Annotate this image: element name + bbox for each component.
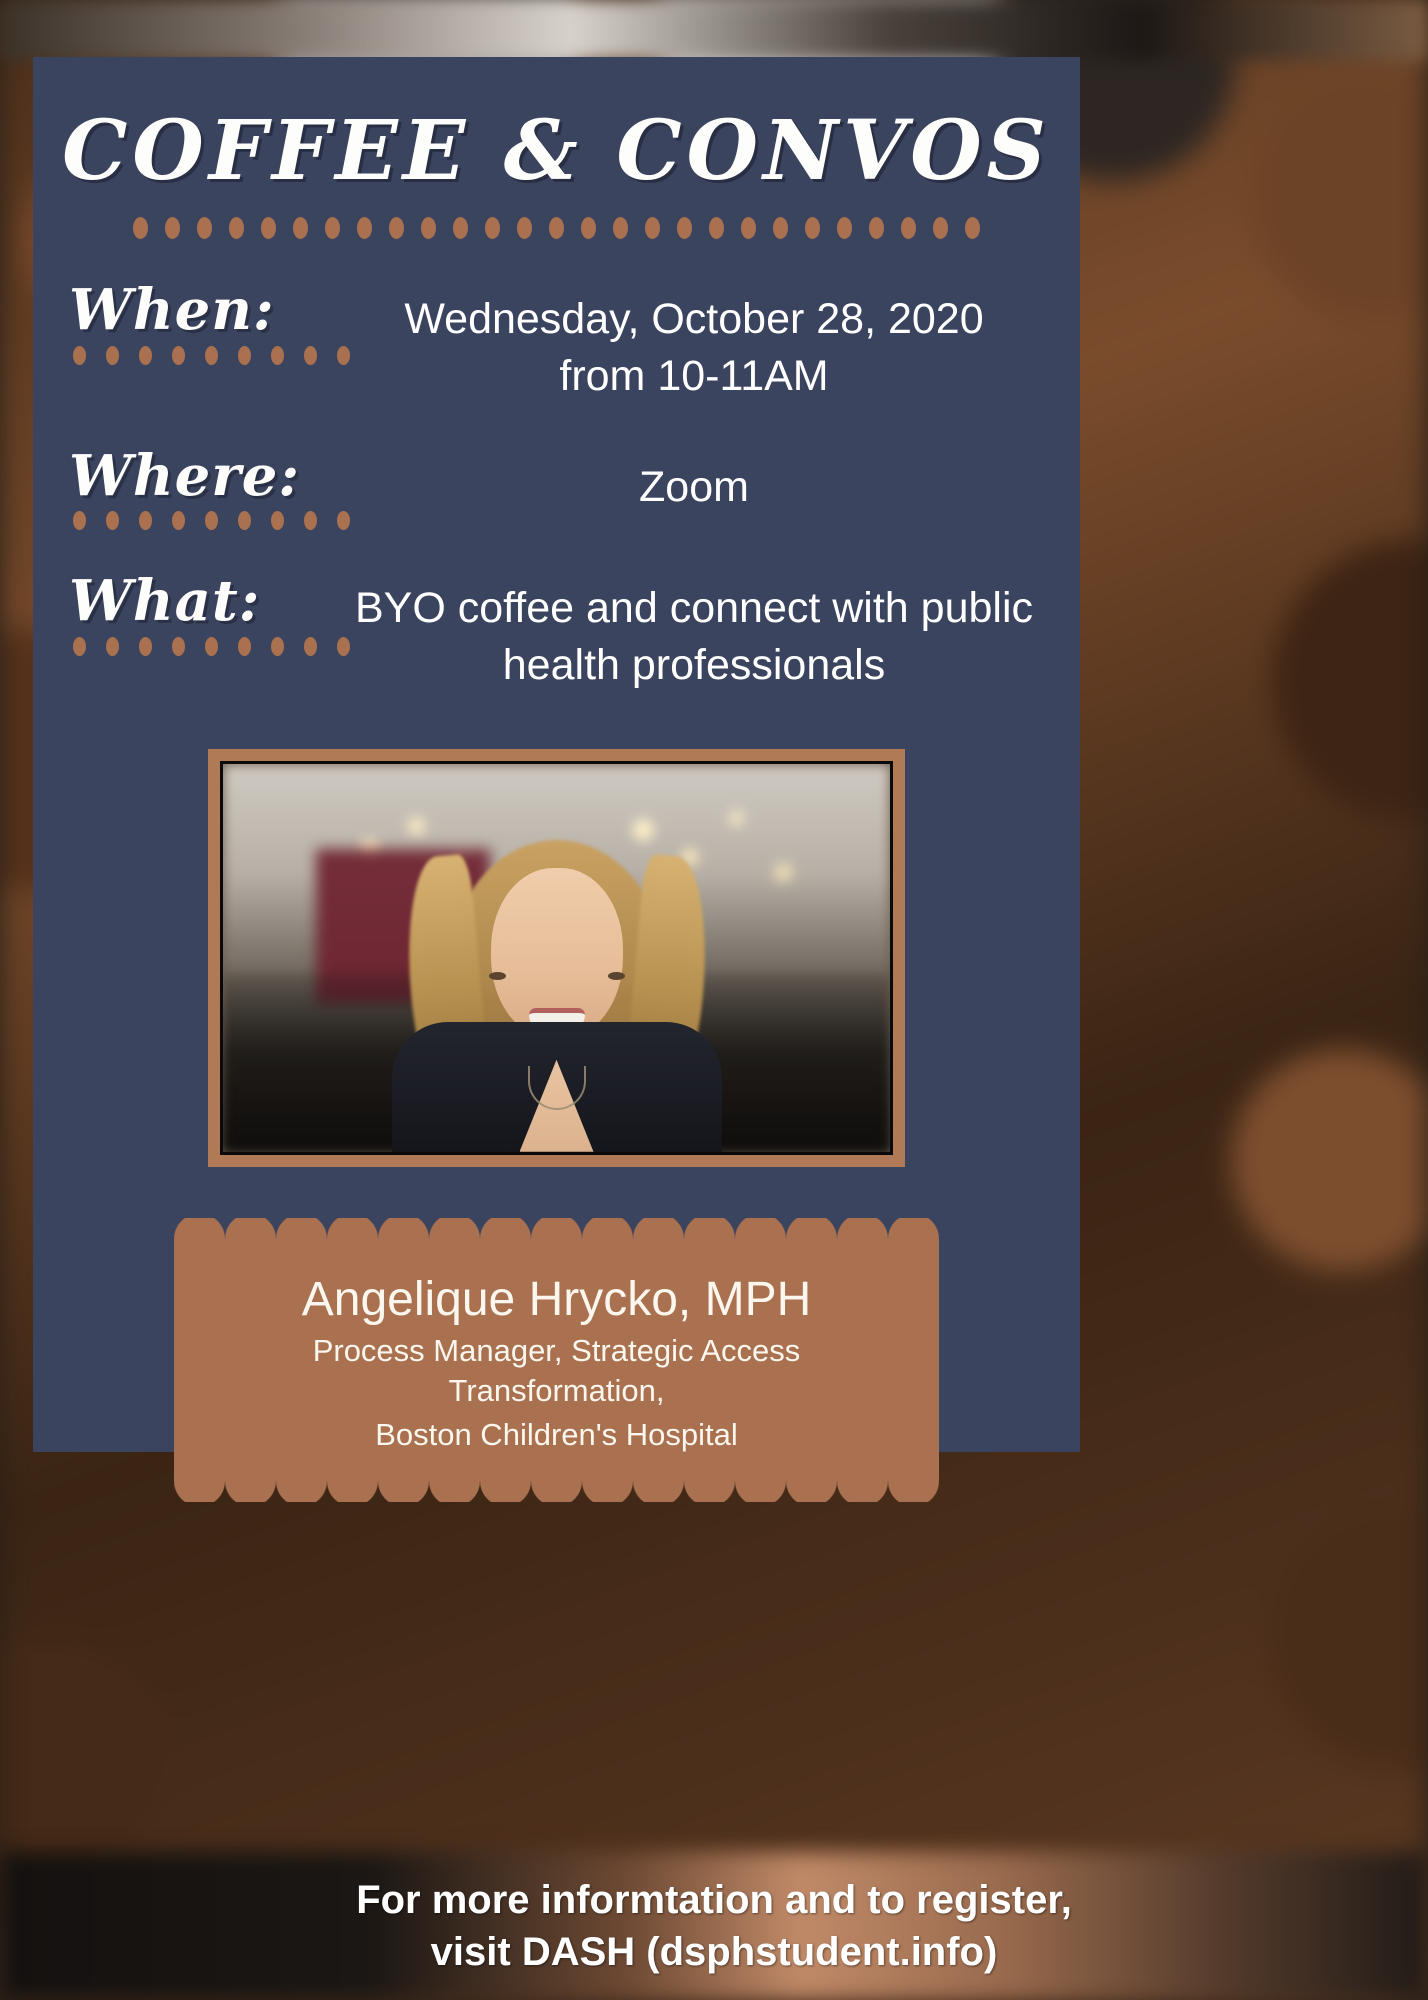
- info-row-when: When: Wednesday, October 28, 2020 from 1…: [33, 281, 1080, 405]
- decorative-dot: [205, 637, 218, 656]
- page-title: COFFEE & CONVOS: [33, 57, 1080, 199]
- decorative-dot: [965, 217, 980, 239]
- speaker-org: Boston Children's Hospital: [204, 1415, 909, 1455]
- decorative-dot: [73, 511, 86, 530]
- label-column-where: Where:: [63, 447, 318, 531]
- decorative-dot: [139, 346, 152, 365]
- what-value-line2: health professionals: [318, 637, 1070, 694]
- decorative-dot: [106, 511, 119, 530]
- decorative-dot: [304, 637, 317, 656]
- what-value: BYO coffee and connect with public healt…: [318, 572, 1080, 694]
- decorative-dot: [485, 217, 500, 239]
- poster-panel: COFFEE & CONVOS When: Wednesday, October…: [33, 57, 1080, 1452]
- speaker-photo-frame: [208, 749, 905, 1167]
- decorative-dot: [357, 217, 372, 239]
- where-dot-divider: [73, 511, 318, 530]
- decorative-dot: [517, 217, 532, 239]
- decorative-dot: [133, 217, 148, 239]
- what-value-line1: BYO coffee and connect with public: [318, 580, 1070, 637]
- decorative-dot: [106, 346, 119, 365]
- photo-subject: [392, 822, 722, 1152]
- info-row-what: What: BYO coffee and connect with public…: [33, 572, 1080, 694]
- decorative-dot: [933, 217, 948, 239]
- where-value: Zoom: [318, 447, 1080, 516]
- decorative-dot: [238, 511, 251, 530]
- when-value-line1: Wednesday, October 28, 2020: [318, 291, 1070, 348]
- decorative-dot: [172, 637, 185, 656]
- decorative-dot: [172, 346, 185, 365]
- decorative-dot: [271, 637, 284, 656]
- decorative-dot: [205, 511, 218, 530]
- decorative-dot: [805, 217, 820, 239]
- decorative-dot: [73, 346, 86, 365]
- footer-line-2: visit DASH (dsphstudent.info): [431, 1926, 998, 1978]
- label-column-what: What:: [63, 572, 318, 656]
- speaker-info-box: Angelique Hrycko, MPH Process Manager, S…: [174, 1239, 939, 1482]
- what-dot-divider: [73, 637, 318, 656]
- where-value-line1: Zoom: [318, 459, 1070, 516]
- speaker-photo: [220, 761, 893, 1155]
- title-dot-divider: [33, 217, 1080, 239]
- decorative-dot: [325, 217, 340, 239]
- scallop-edge-bottom: [174, 1460, 939, 1502]
- footer-line-1: For more informtation and to register,: [356, 1874, 1072, 1926]
- decorative-dot: [205, 346, 218, 365]
- decorative-dot: [304, 346, 317, 365]
- decorative-dot: [581, 217, 596, 239]
- subject-face: [491, 868, 623, 1040]
- decorative-dot: [238, 346, 251, 365]
- decorative-dot: [837, 217, 852, 239]
- when-dot-divider: [73, 346, 318, 365]
- info-row-where: Where: Zoom: [33, 447, 1080, 531]
- decorative-dot: [261, 217, 276, 239]
- subject-eye-left: [608, 972, 625, 980]
- speaker-name: Angelique Hrycko, MPH: [204, 1273, 909, 1327]
- decorative-dot: [293, 217, 308, 239]
- decorative-dot: [549, 217, 564, 239]
- what-label: What:: [63, 572, 318, 631]
- decorative-dot: [106, 637, 119, 656]
- decorative-dot: [453, 217, 468, 239]
- decorative-dot: [645, 217, 660, 239]
- decorative-dot: [271, 346, 284, 365]
- decorative-dot: [677, 217, 692, 239]
- decorative-dot: [773, 217, 788, 239]
- background-top-strip: [0, 0, 1428, 60]
- speaker-role: Process Manager, Strategic Access Transf…: [204, 1331, 909, 1412]
- decorative-dot: [613, 217, 628, 239]
- decorative-dot: [238, 637, 251, 656]
- decorative-dot: [165, 217, 180, 239]
- decorative-dot: [197, 217, 212, 239]
- decorative-dot: [901, 217, 916, 239]
- label-column-when: When:: [63, 281, 318, 365]
- decorative-dot: [139, 511, 152, 530]
- decorative-dot: [304, 511, 317, 530]
- when-label: When:: [63, 281, 318, 340]
- scallop-edge-top: [174, 1218, 939, 1260]
- decorative-dot: [709, 217, 724, 239]
- decorative-dot: [229, 217, 244, 239]
- when-value: Wednesday, October 28, 2020 from 10-11AM: [318, 281, 1080, 405]
- decorative-dot: [741, 217, 756, 239]
- decorative-dot: [139, 637, 152, 656]
- subject-eye-right: [489, 972, 506, 980]
- decorative-dot: [421, 217, 436, 239]
- decorative-dot: [389, 217, 404, 239]
- where-label: Where:: [63, 447, 318, 506]
- decorative-dot: [271, 511, 284, 530]
- decorative-dot: [73, 637, 86, 656]
- footer-banner: For more informtation and to register, v…: [0, 1852, 1428, 2000]
- decorative-dot: [172, 511, 185, 530]
- when-value-line2: from 10-11AM: [318, 348, 1070, 405]
- decorative-dot: [869, 217, 884, 239]
